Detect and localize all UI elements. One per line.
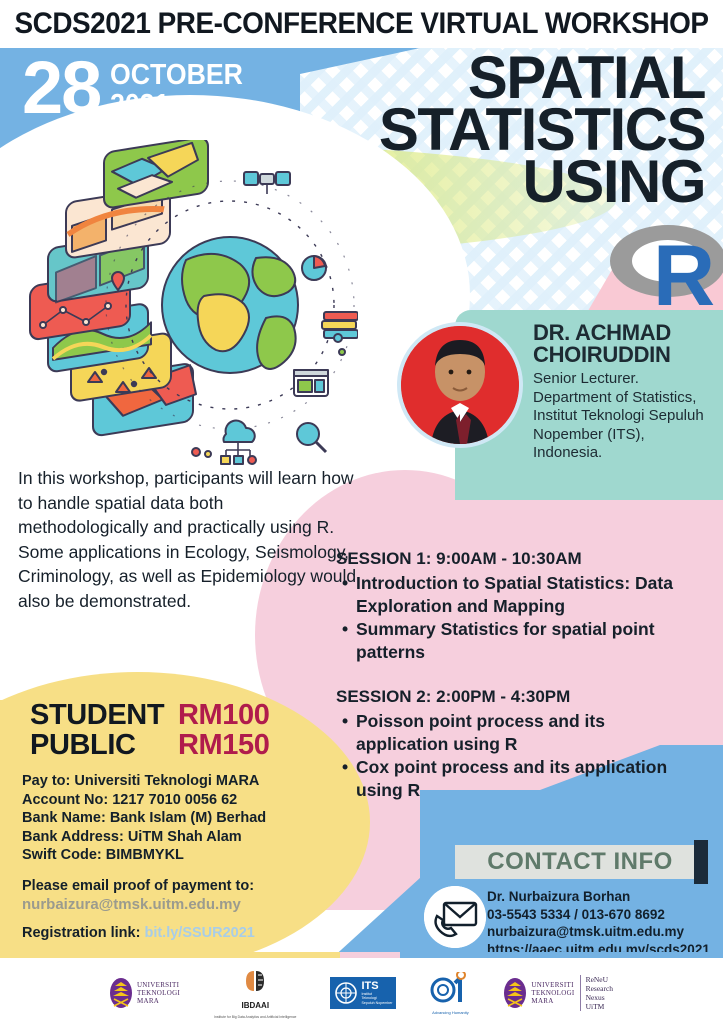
contact-email-phone-icon: [424, 886, 486, 948]
payment-line: Bank Address: UiTM Shah Alam: [22, 828, 342, 847]
payment-line: Account No: 1217 7010 0056 62: [22, 791, 342, 810]
renue-text: ReNeU Research Nexus UiTM: [580, 975, 613, 1011]
renue-uitm-text: UNIVERSITI TEKNOLOGI MARA: [531, 981, 574, 1005]
title-line-3: USING: [300, 156, 705, 208]
ibdaai-sub: Institute for Big Data Analytics and Art…: [214, 1015, 296, 1019]
session-1-items: Introduction to Spatial Statistics: Data…: [342, 572, 676, 663]
contact-email[interactable]: nurbaizura@tmsk.uitm.edu.my: [487, 923, 723, 941]
registration-link-url[interactable]: bit.ly/SSUR2021: [144, 925, 254, 941]
poster: SCDS2021 PRE-CONFERENCE VIRTUAL WORKSHOP…: [0, 0, 723, 1024]
logo-uitm: UNIVERSITI TEKNOLOGI MARA: [110, 978, 180, 1008]
anniversary-61-icon: [430, 972, 470, 1004]
payment-line: Pay to: Universiti Teknologi MARA: [22, 772, 342, 791]
its-logo-text: ITS Institut Teknologi Sepuluh Nopember: [361, 981, 392, 1005]
renue-line2: Research: [586, 984, 613, 993]
contact-info-label: CONTACT INFO: [487, 848, 673, 876]
logo-renue: UNIVERSITI TEKNOLOGI MARA ReNeU Research…: [504, 975, 613, 1011]
pricing-table: STUDENT RM100 PUBLIC RM150: [30, 700, 270, 760]
date-year: 2021: [110, 90, 243, 120]
its-name: ITS: [361, 981, 392, 992]
pricing-row: STUDENT RM100: [30, 700, 270, 730]
payment-proof-label: Please email proof of payment to:: [22, 877, 342, 896]
date-month-year: OCTOBER 2021: [110, 60, 243, 120]
pricing-row: PUBLIC RM150: [30, 730, 270, 760]
session-2-items: Poisson point process and its applicatio…: [342, 710, 676, 801]
renue-line4: UiTM: [586, 1002, 613, 1011]
uitm2-line1: UNIVERSITI: [531, 981, 574, 989]
session-item: Poisson point process and its applicatio…: [342, 710, 676, 755]
payment-proof-email[interactable]: nurbaizura@tmsk.uitm.edu.my: [22, 895, 342, 915]
ibdaai-name: IBDAAI: [241, 1001, 269, 1010]
renue-line3: Nexus: [586, 993, 613, 1002]
page-title: SCDS2021 PRE-CONFERENCE VIRTUAL WORKSHOP: [25, 0, 697, 48]
sponsor-logos: UNIVERSITI TEKNOLOGI MARA IBDAAI Institu…: [0, 962, 723, 1024]
uitm-line3: MARA: [137, 997, 180, 1005]
uitm-crest-icon: [110, 978, 132, 1008]
date-day: 28: [22, 52, 100, 124]
session-2-heading: SESSION 2: 2:00PM - 4:30PM: [336, 686, 676, 708]
dashboard-icon: [294, 370, 328, 396]
pricing-label: PUBLIC: [30, 730, 178, 760]
cloud-network-icon: [221, 421, 256, 464]
contact-details: Dr. Nurbaizura Borhan 03-5543 5334 / 013…: [487, 888, 723, 958]
session-list: SESSION 1: 9:00AM - 10:30AM Introduction…: [336, 548, 676, 802]
uitm2-line2: TEKNOLOGI: [531, 989, 574, 997]
event-date: 28 OCTOBER 2021: [22, 52, 255, 124]
speaker-avatar: [397, 322, 523, 448]
session-1-heading: SESSION 1: 9:00AM - 10:30AM: [336, 548, 676, 570]
magnifier-icon: [297, 423, 326, 452]
uitm2-line3: MARA: [531, 997, 574, 1005]
logo-anniversary: Advancing Humanity: [430, 972, 470, 1015]
payment-line: Swift Code: BIMBMYKL: [22, 846, 342, 865]
payment-line: Bank Name: Bank Islam (M) Berhad: [22, 809, 342, 828]
registration-link-row: Registration link: bit.ly/SSUR2021: [22, 925, 342, 941]
speaker-name-line1: DR. ACHMAD: [533, 322, 723, 344]
session-item: Summary Statistics for spatial point pat…: [342, 618, 676, 663]
brain-circuit-icon: [242, 968, 268, 994]
speaker-name: DR. ACHMAD CHOIRUDDIN: [533, 322, 723, 366]
session-item: Cox point process and its application us…: [342, 756, 676, 801]
date-month: OCTOBER: [110, 60, 243, 90]
pricing-value: RM100: [178, 700, 270, 730]
payment-details: Pay to: Universiti Teknologi MARA Accoun…: [22, 772, 342, 967]
svg-text:R: R: [653, 228, 715, 312]
pricing-label: STUDENT: [30, 700, 178, 730]
uitm-line2: TEKNOLOGI: [137, 989, 180, 997]
contact-phone: 03-5543 5334 / 013-670 8692: [487, 906, 723, 924]
speaker-role: Senior Lecturer. Department of Statistic…: [533, 370, 713, 463]
renue-line1: ReNeU: [586, 975, 613, 984]
map-layer-top: [104, 140, 208, 209]
uitm-line1: UNIVERSITI: [137, 981, 180, 989]
logo-its: ITS Institut Teknologi Sepuluh Nopember: [330, 977, 396, 1009]
uitm-logo-text: UNIVERSITI TEKNOLOGI MARA: [137, 981, 180, 1005]
pie-chart-icon: [302, 256, 326, 280]
session-item: Introduction to Spatial Statistics: Data…: [342, 572, 676, 617]
workshop-title: SPATIAL STATISTICS USING R: [300, 52, 723, 209]
r-language-logo: R: [606, 217, 723, 312]
its-emblem-icon: [334, 980, 358, 1006]
speaker-name-line2: CHOIRUDDIN: [533, 344, 723, 366]
satellite-icon: [244, 172, 290, 194]
pricing-value: RM150: [178, 730, 270, 760]
anniversary-tagline: Advancing Humanity: [432, 1010, 469, 1015]
workshop-description: In this workshop, participants will lear…: [18, 466, 358, 613]
its-sub3: Sepuluh Nopember: [361, 1001, 392, 1005]
logo-ibdaai: IBDAAI Institute for Big Data Analytics …: [214, 968, 296, 1019]
contact-name: Dr. Nurbaizura Borhan: [487, 888, 723, 906]
contact-accent-bar: [694, 840, 708, 884]
session-gap: [336, 664, 676, 686]
uitm-crest-icon-2: [504, 978, 526, 1008]
globe-icon: [162, 237, 298, 373]
registration-link-label: Registration link:: [22, 925, 140, 941]
contact-info-banner: CONTACT INFO: [455, 845, 705, 879]
